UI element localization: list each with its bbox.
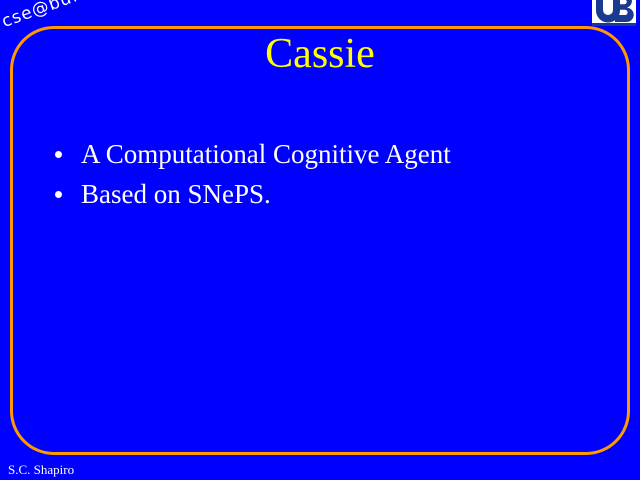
bullet-dot-icon — [55, 151, 62, 158]
slide-footer-author: S.C. Shapiro — [8, 462, 74, 477]
list-item: A Computational Cognitive Agent — [52, 134, 592, 174]
bullet-dot-icon — [55, 191, 62, 198]
ub-logo-icon — [592, 0, 636, 26]
list-item-label: A Computational Cognitive Agent — [81, 139, 451, 169]
bullet-list: A Computational Cognitive Agent Based on… — [52, 134, 592, 214]
presentation-slide: cse@buffalo Cassie A Computational Cogni… — [0, 0, 640, 480]
slide-title: Cassie — [0, 31, 640, 77]
list-item-label: Based on SNePS. — [81, 179, 271, 209]
slide-frame-border — [10, 26, 630, 455]
cse-buffalo-wordmark: cse@buffalo — [0, 0, 115, 32]
list-item: Based on SNePS. — [52, 174, 592, 214]
